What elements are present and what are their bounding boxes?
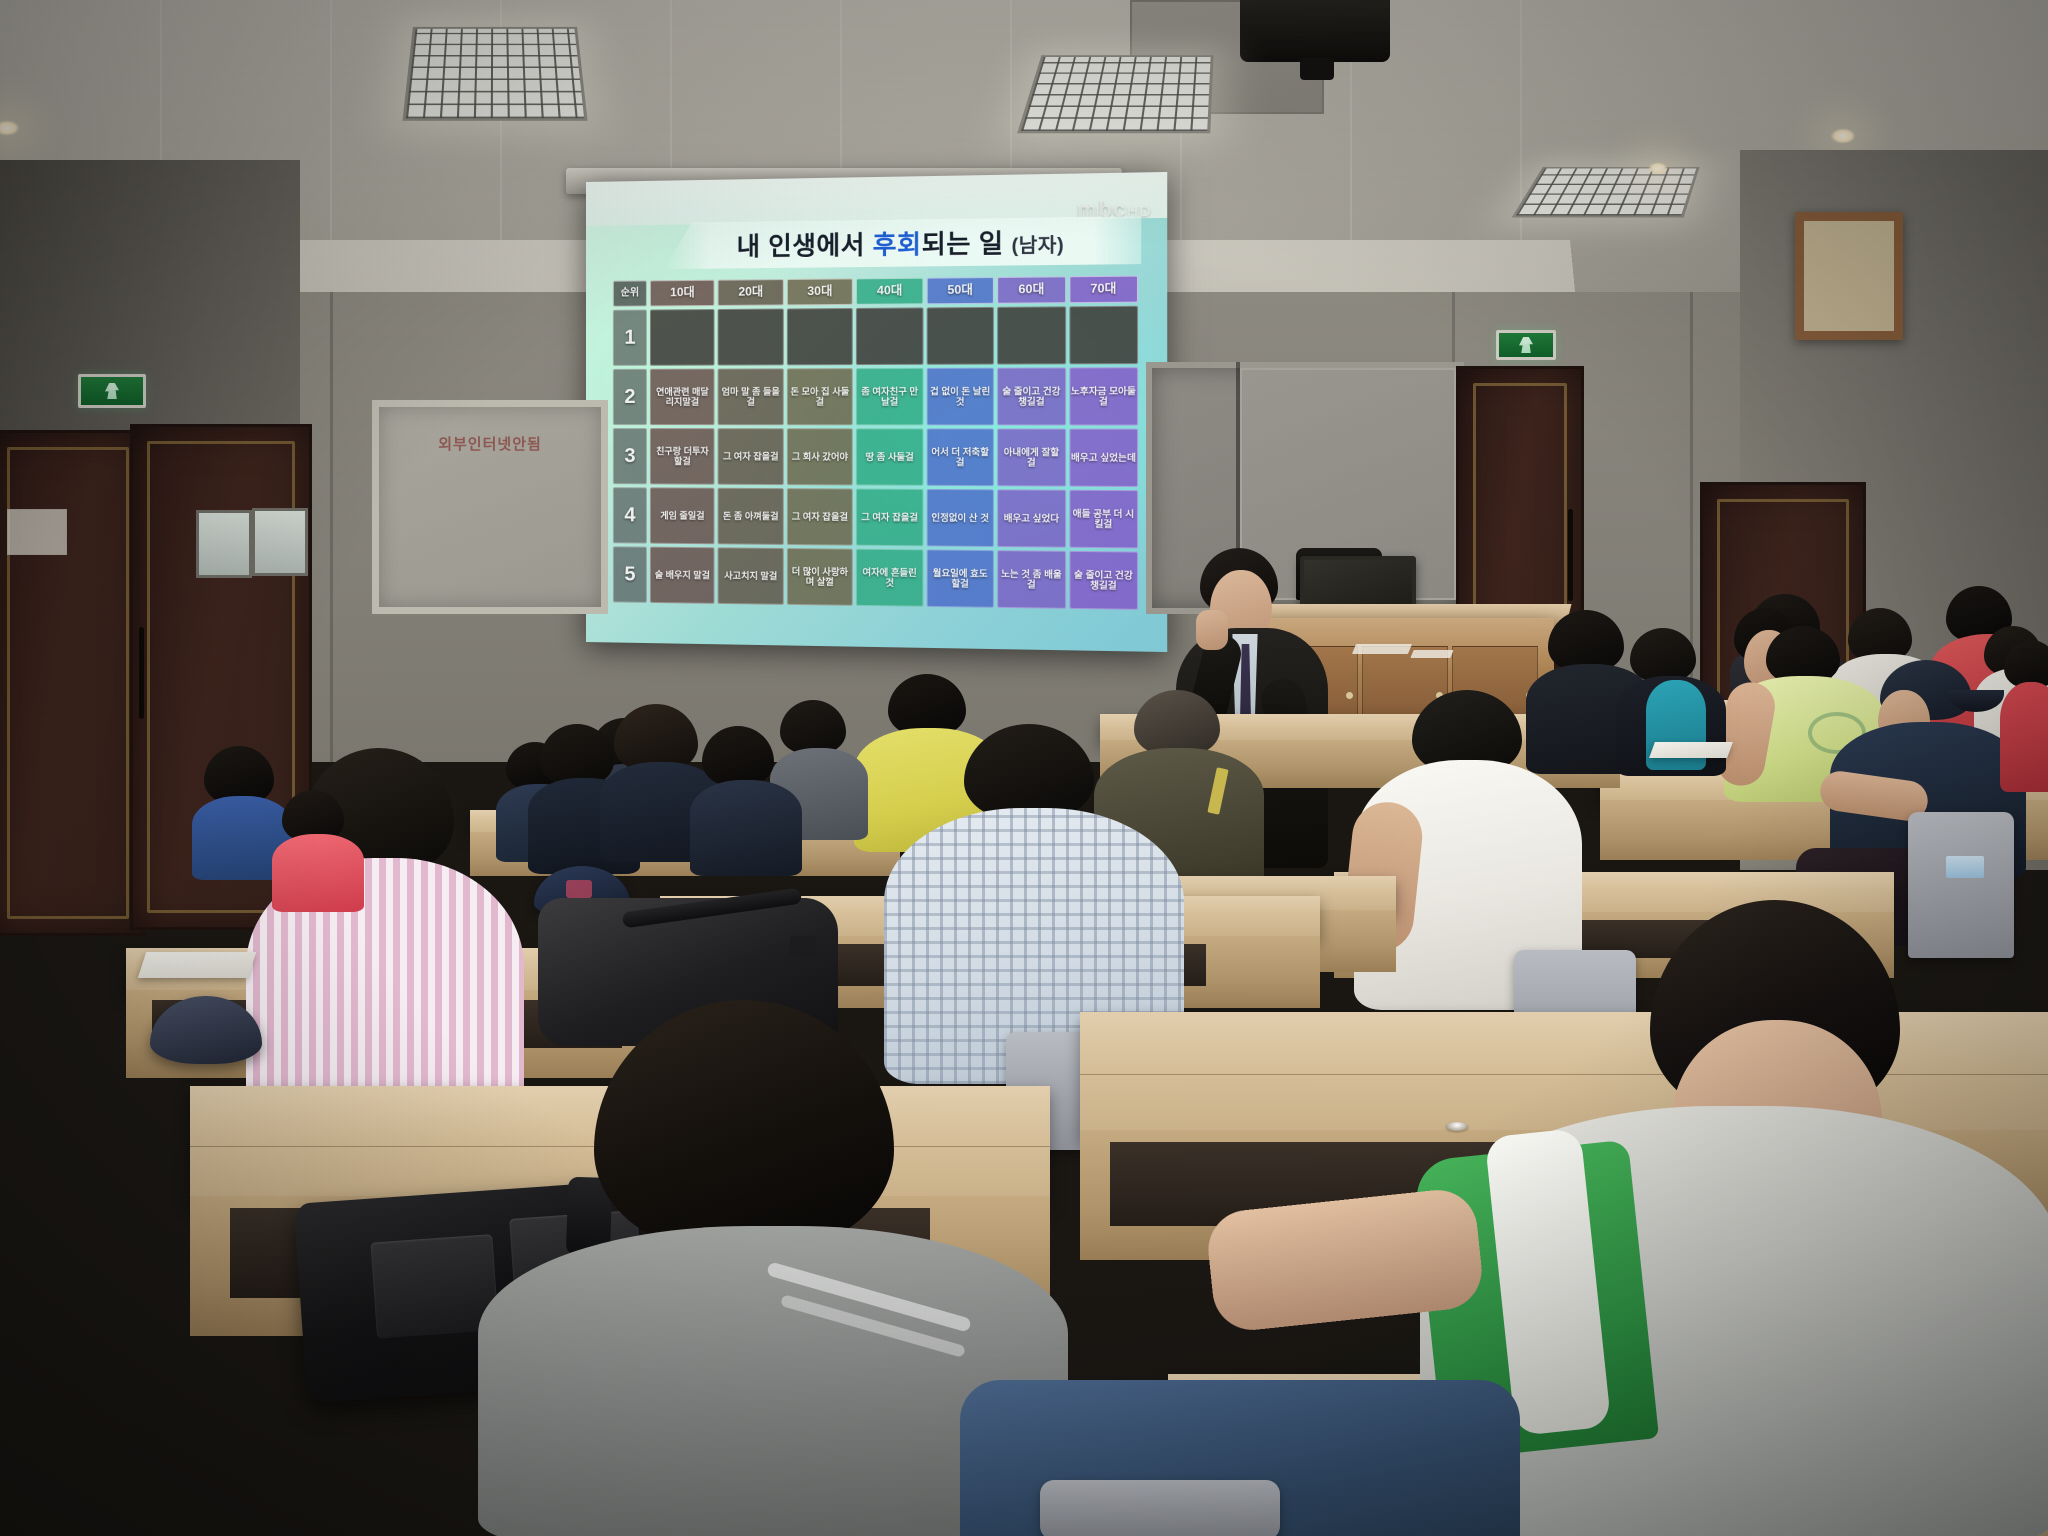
chair-sticker [1946,856,1984,878]
col-header-rank: 순위 [613,280,647,306]
slide-cell: 술 줄이고 건강챙길걸 [1069,551,1138,610]
projected-slide: mbcHD 내 인생에서 후회되는 일 (남자) 순위 10대 20대 30대 … [586,172,1167,652]
slide-cell: 더 많이 사랑하며 살껄 [787,548,853,606]
student-striped-foreground-right [1540,900,2048,1536]
slide-cell: 그 여자 잡을걸 [718,428,784,485]
slide-title-banner: 내 인생에서 후회되는 일 (남자) [664,216,1141,269]
rank-cell: 2 [613,369,647,425]
slide-cell: 그 여자 잡을걸 [787,488,853,545]
notebook-rear-desk [1649,742,1733,758]
slide-cell [997,306,1065,364]
slide-title-highlight: 후회 [873,231,922,260]
door-poster [252,508,308,576]
slide-title: 내 인생에서 후회되는 일 (남자) [737,222,1065,263]
slide-cell: 돈 모아 집 사둘걸 [787,368,853,425]
col-header-50s: 50대 [926,277,994,304]
slide-cell [650,309,715,366]
student-red-shirt-right [2000,640,2048,790]
slide-cell: 엄마 말 좀 들을걸 [718,368,784,425]
slide-title-part1: 내 인생에서 [737,231,873,261]
slide-cell [856,307,923,365]
slide-table-row: 2 연애관련 매달리지말걸 엄마 말 좀 들을걸 돈 모아 집 사둘걸 좀 여자… [613,367,1138,425]
wall-picture-frame [1795,212,1903,340]
slide-cell: 연애관련 매달리지말걸 [650,369,715,426]
slide-cell: 배우고 싶었는데 [1069,429,1138,487]
ceiling-projector [1240,0,1390,62]
door-poster [196,510,252,578]
student-rear-of-pink-5 [690,726,800,866]
exit-sign-right [1496,330,1556,360]
slide-cell: 인정없이 산 것 [926,489,994,547]
slide-cell: 애들 공부 더 시킬걸 [1069,490,1138,549]
slide-table-row: 1 [613,306,1138,366]
ceiling-downlight [1648,162,1668,175]
slide-cell: 노후자금 모아둘걸 [1069,367,1138,425]
slide-cell: 돈 좀 아껴둘걸 [718,488,784,545]
slide-data-table: 순위 10대 20대 30대 40대 50대 60대 70대 1 [610,272,1141,613]
slide-cell: 좀 여자친구 만날걸 [856,368,923,425]
slide-cell: 술 줄이고 건강챙길걸 [997,367,1065,425]
papers-left-desk [138,952,256,978]
slide-cell [787,308,853,365]
foreground-student-hair [594,1000,894,1250]
slide-cell: 게임 줄일걸 [650,487,715,544]
slide-cell: 땅 좀 사둘걸 [856,428,923,485]
projection-screen: mbcHD 내 인생에서 후회되는 일 (남자) 순위 10대 20대 30대 … [586,172,1167,652]
ceiling-downlight [1830,128,1856,144]
slide-cell: 사고치지 말걸 [718,547,784,604]
slide-cell: 술 배우지 말걸 [650,547,715,604]
presenter-hand-raised [1196,610,1228,650]
col-header-20s: 20대 [718,279,784,306]
slide-cell: 그 여자 잡을걸 [856,489,923,547]
col-header-30s: 30대 [787,278,853,305]
slide-cell: 겁 없이 돈 날린 것 [926,368,994,426]
slide-table-header-row: 순위 10대 20대 30대 40대 50대 60대 70대 [613,276,1138,307]
slide-table-row: 4 게임 줄일걸 돈 좀 아껴둘걸 그 여자 잡을걸 그 여자 잡을걸 인정없이… [613,487,1138,548]
whiteboard-note-text: 외부인터넷안됨 [379,433,601,454]
chair-foreground-bottom [1040,1480,1280,1536]
rank-cell: 4 [613,487,647,543]
slide-cell [718,308,784,365]
col-header-70s: 70대 [1069,276,1138,304]
ceiling-light-panel [402,27,587,121]
student-rear-of-pink-2 [272,790,364,900]
rank-cell: 3 [613,428,647,484]
lecture-hall-photo: mbcHD 내 인생에서 후회되는 일 (남자) 순위 10대 20대 30대 … [0,0,2048,1536]
door-left-rear[interactable] [0,430,146,936]
slide-cell: 노는 것 좀 배울걸 [997,550,1065,609]
podium-papers [1410,650,1453,658]
slide-cell: 친구랑 더투자 할걸 [650,428,715,485]
slide-cell: 그 회사 갔어야 [787,428,853,485]
slide-cell [926,307,994,365]
cap-logo [566,880,592,898]
col-header-60s: 60대 [997,276,1065,303]
ceiling-light-panel [1017,55,1213,133]
door-notice-paper [7,509,67,555]
rank-cell: 5 [613,546,647,603]
slide-title-part2: 되는 일 [922,229,1004,259]
slide-cell: 어서 더 저축할걸 [926,428,994,486]
slide-cell: 여자에 흔들린것 [856,549,923,607]
exit-sign-left [78,374,146,408]
whiteboard-left: 외부인터넷안됨 [372,400,608,614]
desk-cable-grommet [1446,1122,1468,1131]
podium-papers [1352,644,1412,654]
slide-cell: 월요일에 효도할걸 [926,549,994,607]
col-header-10s: 10대 [650,280,715,307]
bag-buckle [790,936,816,956]
slide-table-row: 3 친구랑 더투자 할걸 그 여자 잡을걸 그 회사 갔어야 땅 좀 사둘걸 어… [613,428,1138,487]
rank-cell: 1 [613,310,647,366]
slide-cell: 배우고 싶었다 [997,489,1065,547]
col-header-40s: 40대 [856,278,923,305]
slide-cell: 아내에게 잘할걸 [997,428,1065,486]
slide-title-subject: (남자) [1011,235,1064,257]
slide-table-row: 5 술 배우지 말걸 사고치지 말걸 더 많이 사랑하며 살껄 여자에 흔들린것… [613,546,1138,610]
ceiling-light-panel [1512,167,1700,218]
slide-cell [1069,306,1138,365]
